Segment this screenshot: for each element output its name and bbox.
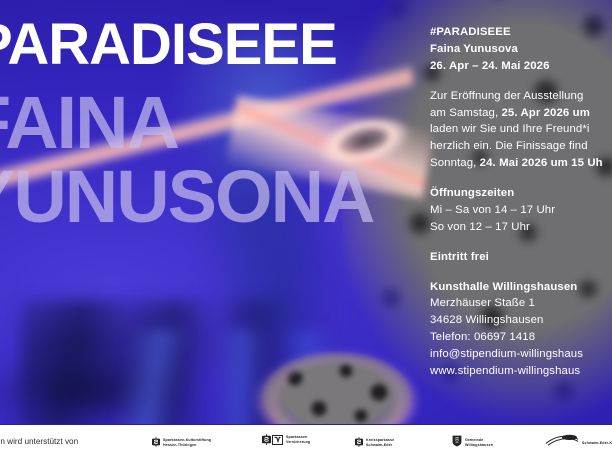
event-info-panel: #PARADISEEE Faina Yunusova 26. Apr – 24.… — [430, 24, 612, 380]
logo-schwalm-eder-kreis-text: Schwalm-Eder-Kreis — [582, 441, 612, 446]
poster-title: PARADISEEE — [0, 17, 337, 73]
invitation-block: Zur Eröffnung der Ausstellung am Samstag… — [430, 88, 612, 172]
logo-line-1: Sparkassen-Kulturstiftung — [163, 438, 211, 442]
invitation-line-2: am Samstag, 25. Apr 2026 um — [430, 105, 612, 122]
logo-line-2: Versicherung — [286, 440, 310, 444]
logo-gemeinde-text: Gemeinde Willingshausen — [465, 438, 493, 447]
invitation-line-2-text: am Samstag, — [430, 107, 501, 119]
logo-sparkassen-versicherung: Sparkassen Versicherung — [262, 434, 310, 445]
logo-gemeinde-willingshausen: Gemeinde Willingshausen — [452, 434, 493, 452]
sparkasse-s-icon — [355, 434, 363, 452]
artist-name-line-2: YUNUSONA — [0, 162, 373, 232]
opening-hours-sunday: So von 12 – 17 Uhr — [430, 219, 612, 236]
hashtag-label: #PARADISEEE — [430, 24, 612, 41]
sponsor-footer: ...ngshausen wird unterstützt von Sparka… — [0, 424, 612, 459]
coat-of-arms-icon — [452, 434, 462, 452]
invitation-line-5-text: Sonntag, — [430, 157, 480, 169]
logo-line-2: Hessen-Thüringen — [163, 443, 196, 447]
logo-sparkassen-kulturstiftung-text: Sparkassen-Kulturstiftung Hessen-Thüring… — [163, 438, 211, 447]
logo-line-1: Gemeinde — [465, 438, 483, 442]
invitation-line-3: laden wir Sie und Ihre Freund*i — [430, 121, 612, 138]
logo-line-2: Schwalm-Eder — [366, 443, 392, 447]
venue-name: Kunsthalle Willingshausen — [430, 279, 612, 296]
admission-block: Eintritt frei — [430, 249, 612, 266]
invitation-line-4: herzlich ein. Die Finissage find — [430, 138, 612, 155]
logo-kreissparkasse-schwalm-eder: Kreissparkasse Schwalm-Eder — [355, 434, 394, 452]
invitation-line-5: Sonntag, 24. Mai 2026 um 15 Uh — [430, 155, 612, 172]
venue-website[interactable]: www.stipendium-willingshaus — [430, 363, 612, 380]
artist-name-display: FAINA YUNUSONA — [0, 88, 373, 231]
venue-email[interactable]: info@stipendium-willingshaus — [430, 346, 612, 363]
logo-line-1: Sparkassen — [286, 435, 307, 439]
logo-line-2: Willingshausen — [465, 443, 493, 447]
artist-name-line-1: FAINA — [0, 81, 178, 164]
sv-icon — [262, 434, 283, 445]
venue-phone: Telefon: 06697 1418 — [430, 329, 612, 346]
logo-schwalm-eder-kreis: Schwalm-Eder-Kreis — [545, 434, 612, 452]
logo-sparkassen-kulturstiftung: Sparkassen-Kulturstiftung Hessen-Thüring… — [152, 434, 211, 452]
opening-hours-heading: Öffnungszeiten — [430, 185, 612, 202]
swoosh-icon — [545, 434, 579, 452]
opening-hours-block: Öffnungszeiten Mi – Sa von 14 – 17 Uhr S… — [430, 185, 612, 236]
venue-street: Merzhäuser Staße 1 — [430, 295, 612, 312]
logo-kreissparkasse-text: Kreissparkasse Schwalm-Eder — [366, 438, 394, 447]
artist-label: Faina Yunusova — [430, 41, 612, 58]
opening-hours-weekdays: Mi – Sa von 14 – 17 Uhr — [430, 202, 612, 219]
logo-sparkassen-versicherung-text: Sparkassen Versicherung — [286, 435, 310, 444]
sparkasse-s-icon — [152, 434, 160, 452]
venue-city: 34628 Willingshausen — [430, 312, 612, 329]
info-header-block: #PARADISEEE Faina Yunusova 26. Apr – 24.… — [430, 24, 612, 75]
invitation-line-2-date: 25. Apr 2026 um — [501, 107, 589, 119]
invitation-line-1: Zur Eröffnung der Ausstellung — [430, 88, 612, 105]
exhibition-poster: PARADISEEE FAINA YUNUSONA #PARADISEEE Fa… — [0, 0, 612, 459]
admission-label: Eintritt frei — [430, 249, 612, 266]
support-text: ...ngshausen wird unterstützt von — [0, 437, 78, 446]
logo-line-1: Kreissparkasse — [366, 438, 394, 442]
date-range: 26. Apr – 24. Mai 2026 — [430, 58, 612, 75]
venue-block: Kunsthalle Willingshausen Merzhäuser Sta… — [430, 279, 612, 380]
invitation-line-5-date: 24. Mai 2026 um 15 Uh — [480, 157, 603, 169]
